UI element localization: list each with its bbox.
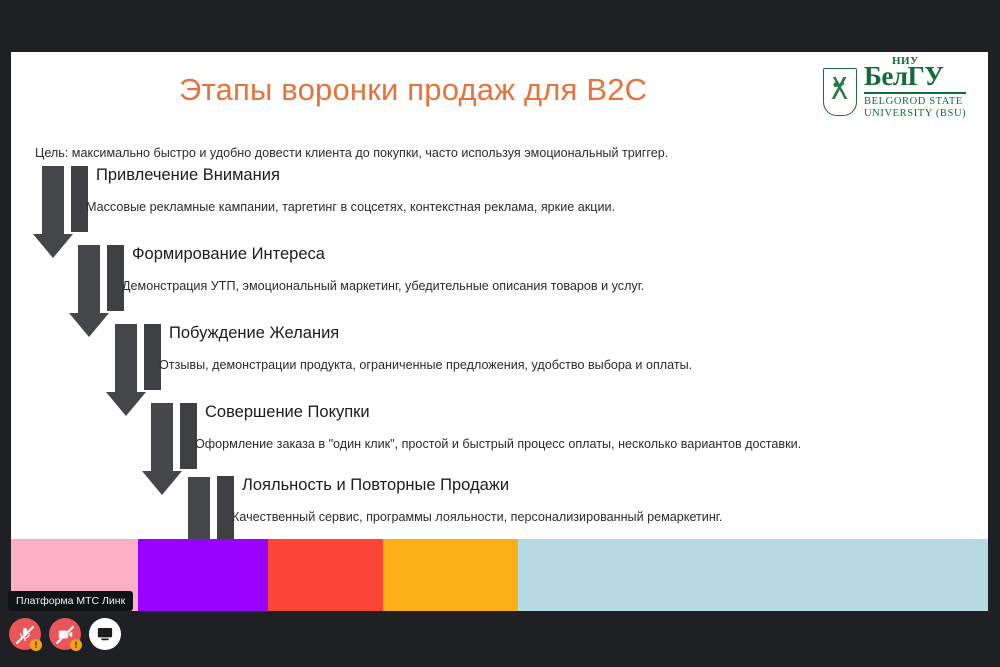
decorative-color-bar (11, 539, 988, 611)
share-screen-button[interactable] (89, 618, 121, 650)
arrow-shaft (115, 324, 137, 392)
stage-title: Лояльность и Повторные Продажи (242, 476, 509, 495)
page-title: Этапы воронки продаж для B2C (179, 72, 647, 108)
logo-text: БелГУ НИУ BELGOROD STATE UNIVERSITY (BSU… (864, 63, 966, 120)
funnel-stage-3: Побуждение Желания Отзывы, демонстрации … (144, 324, 844, 390)
funnel-arrow-3 (106, 324, 146, 416)
warning-badge: ! (30, 639, 42, 651)
stage-description: Массовые рекламные кампании, таргетинг в… (86, 200, 615, 214)
funnel-stage-4: Совершение Покупки Оформление заказа в "… (180, 403, 920, 469)
stage-title: Привлечение Внимания (96, 166, 280, 185)
logo-subtitle-line1: BELGOROD STATE (864, 96, 966, 108)
stage-accent-bar (217, 476, 234, 542)
logo-subtitle-line2: UNIVERSITY (BSU) (864, 108, 966, 120)
stage-title: Формирование Интереса (132, 245, 325, 264)
funnel-arrow-2 (69, 245, 109, 337)
stage-description: Качественный сервис, программы лояльност… (232, 510, 722, 524)
stage-accent-bar (144, 324, 161, 390)
funnel-arrow-4 (142, 403, 182, 495)
microphone-muted-button[interactable]: ! (9, 618, 41, 650)
logo-niu-label: НИУ (892, 56, 919, 67)
arrow-head (33, 234, 73, 258)
arrow-head (106, 392, 146, 416)
stage-description: Оформление заказа в "один клик", простой… (195, 437, 801, 451)
presentation-slide: Этапы воронки продаж для B2C БелГУ НИУ B… (11, 52, 988, 611)
arrow-shaft (42, 166, 64, 234)
meeting-screen-share-view: Этапы воронки продаж для B2C БелГУ НИУ B… (0, 0, 1000, 667)
stage-accent-bar (71, 166, 88, 232)
warning-badge: ! (70, 639, 82, 651)
heraldic-crest-icon (823, 68, 857, 116)
stage-title: Побуждение Желания (169, 324, 339, 343)
funnel-stage-5: Лояльность и Повторные Продажи Качествен… (217, 476, 857, 542)
arrow-shaft (151, 403, 173, 471)
funnel-stage-1: Привлечение Внимания Массовые рекламные … (71, 166, 771, 232)
goal-statement: Цель: максимально быстро и удобно довест… (35, 146, 668, 160)
stage-accent-bar (180, 403, 197, 469)
arrow-head (142, 471, 182, 495)
university-logo: БелГУ НИУ BELGOROD STATE UNIVERSITY (BSU… (823, 61, 978, 123)
stage-description: Отзывы, демонстрации продукта, ограничен… (159, 358, 692, 372)
arrow-head (69, 313, 109, 337)
stage-accent-bar (107, 245, 124, 311)
monitor-icon (96, 625, 114, 643)
stage-description: Демонстрация УТП, эмоциональный маркетин… (122, 279, 644, 293)
funnel-stage-2: Формирование Интереса Демонстрация УТП, … (107, 245, 807, 311)
platform-tooltip: Платформа МТС Линк (8, 591, 133, 611)
arrow-shaft (78, 245, 100, 313)
camera-muted-button[interactable]: ! (49, 618, 81, 650)
funnel-arrow-1 (33, 166, 73, 258)
logo-main-text: БелГУ НИУ (864, 63, 966, 90)
color-swatch-purple (138, 539, 268, 611)
logo-divider (864, 92, 966, 94)
stage-title: Совершение Покупки (205, 403, 370, 422)
color-swatch-orange (383, 539, 518, 611)
color-swatch-light-blue (518, 539, 988, 611)
color-swatch-red (268, 539, 383, 611)
meeting-controls: ! ! (9, 618, 121, 650)
